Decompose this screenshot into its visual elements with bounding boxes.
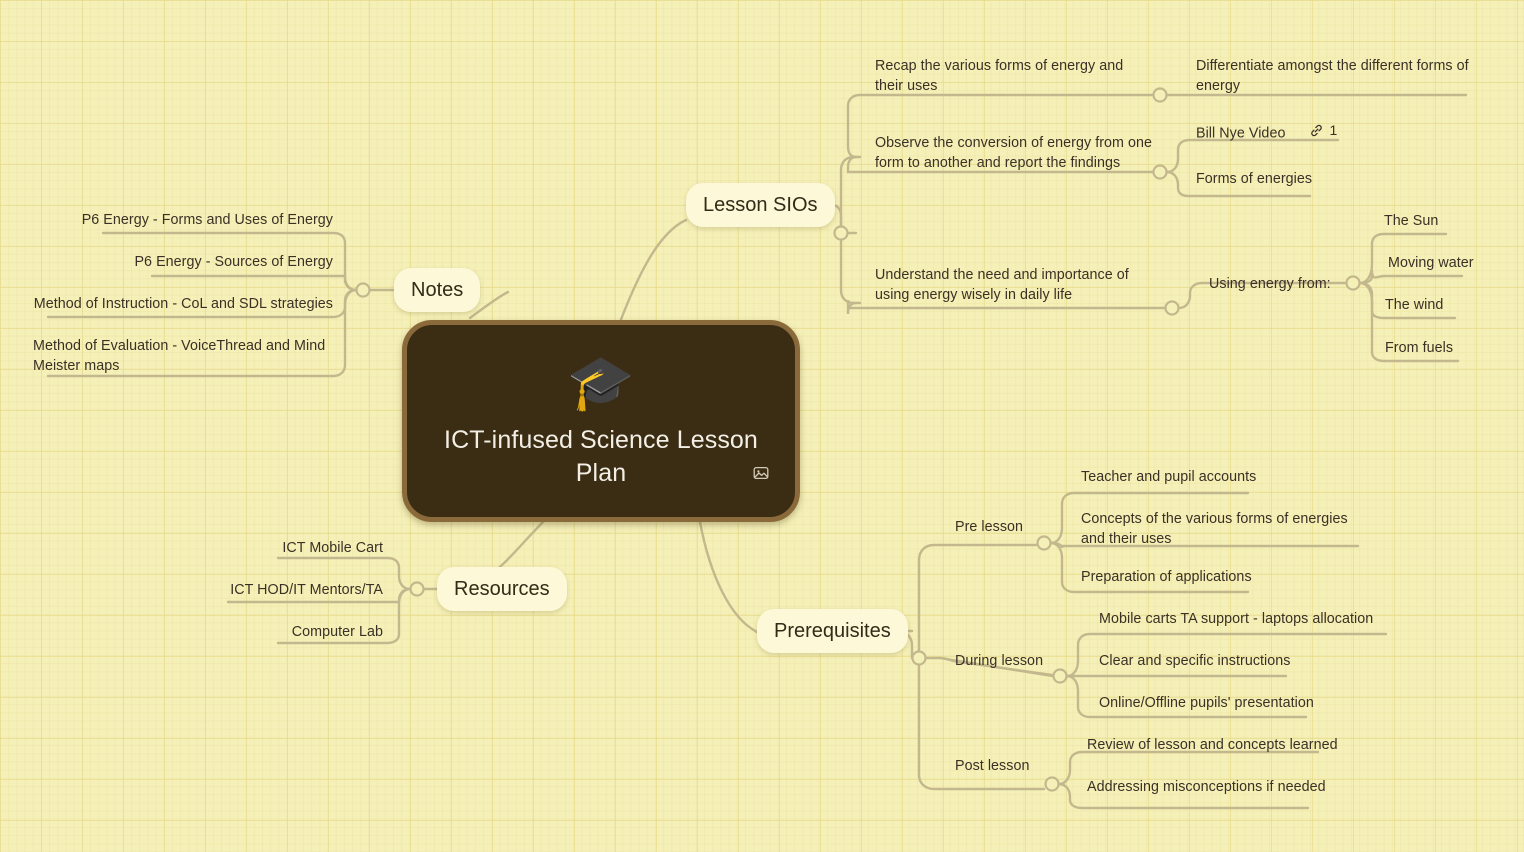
image-icon[interactable] bbox=[753, 465, 769, 481]
node-pre-lesson[interactable]: Pre lesson bbox=[955, 517, 1075, 537]
root-title: ICT-infused Science Lesson Plan bbox=[436, 424, 766, 490]
node-forms-of-energies[interactable]: Forms of energies bbox=[1196, 169, 1396, 189]
node-using-energy-from[interactable]: Using energy from: bbox=[1209, 274, 1359, 294]
node-p6-forms-uses[interactable]: P6 Energy - Forms and Uses of Energy bbox=[33, 210, 333, 230]
node-mobile-carts-ta-support[interactable]: Mobile carts TA support - laptops alloca… bbox=[1099, 609, 1399, 629]
node-bill-nye-video[interactable]: Bill Nye Video 1 bbox=[1196, 121, 1396, 144]
node-understand-energy-wisely[interactable]: Understand the need and importance of us… bbox=[875, 265, 1165, 306]
link-count: 1 bbox=[1329, 121, 1337, 141]
node-online-offline-presentation[interactable]: Online/Offline pupils' presentation bbox=[1099, 693, 1399, 713]
node-during-lesson[interactable]: During lesson bbox=[955, 651, 1080, 671]
branch-label: Resources bbox=[454, 578, 550, 601]
node-post-lesson[interactable]: Post lesson bbox=[955, 756, 1075, 776]
node-computer-lab[interactable]: Computer Lab bbox=[108, 622, 383, 642]
node-from-fuels[interactable]: From fuels bbox=[1385, 338, 1515, 358]
node-moving-water[interactable]: Moving water bbox=[1388, 253, 1518, 273]
branch-node-notes[interactable]: Notes bbox=[394, 268, 480, 312]
branch-label: Notes bbox=[411, 279, 463, 302]
mindmap-canvas[interactable]: 🎓 ICT-infused Science Lesson Plan Lesson… bbox=[0, 0, 1524, 852]
node-differentiate-forms[interactable]: Differentiate amongst the different form… bbox=[1196, 56, 1470, 97]
link-icon-badge[interactable]: 1 bbox=[1309, 121, 1337, 141]
branch-node-resources[interactable]: Resources bbox=[437, 567, 567, 611]
node-the-sun[interactable]: The Sun bbox=[1384, 211, 1514, 231]
node-method-of-instruction[interactable]: Method of Instruction - CoL and SDL stra… bbox=[33, 294, 333, 314]
graduation-cap-icon: 🎓 bbox=[567, 356, 634, 410]
node-preparation-applications[interactable]: Preparation of applications bbox=[1081, 567, 1351, 587]
node-clear-specific-instructions[interactable]: Clear and specific instructions bbox=[1099, 651, 1399, 671]
node-ict-hod-mentors[interactable]: ICT HOD/IT Mentors/TA bbox=[108, 580, 383, 600]
node-recap-forms-of-energy[interactable]: Recap the various forms of energy and th… bbox=[875, 56, 1153, 97]
branch-label: Lesson SIOs bbox=[703, 194, 818, 217]
node-review-of-lesson[interactable]: Review of lesson and concepts learned bbox=[1087, 735, 1377, 755]
node-observe-conversion[interactable]: Observe the conversion of energy from on… bbox=[875, 133, 1165, 174]
branch-node-prerequisites[interactable]: Prerequisites bbox=[757, 609, 908, 653]
node-concepts-forms-energies[interactable]: Concepts of the various forms of energie… bbox=[1081, 509, 1361, 550]
node-addressing-misconceptions[interactable]: Addressing misconceptions if needed bbox=[1087, 777, 1377, 797]
branch-label: Prerequisites bbox=[774, 620, 891, 643]
node-ict-mobile-cart[interactable]: ICT Mobile Cart bbox=[108, 538, 383, 558]
node-the-wind[interactable]: The wind bbox=[1385, 295, 1515, 315]
node-p6-sources[interactable]: P6 Energy - Sources of Energy bbox=[33, 252, 333, 272]
root-node[interactable]: 🎓 ICT-infused Science Lesson Plan bbox=[402, 320, 800, 522]
node-teacher-pupil-accounts[interactable]: Teacher and pupil accounts bbox=[1081, 467, 1351, 487]
branch-node-lesson-sios[interactable]: Lesson SIOs bbox=[686, 183, 835, 227]
node-method-of-evaluation[interactable]: Method of Evaluation - VoiceThread and M… bbox=[33, 336, 333, 377]
